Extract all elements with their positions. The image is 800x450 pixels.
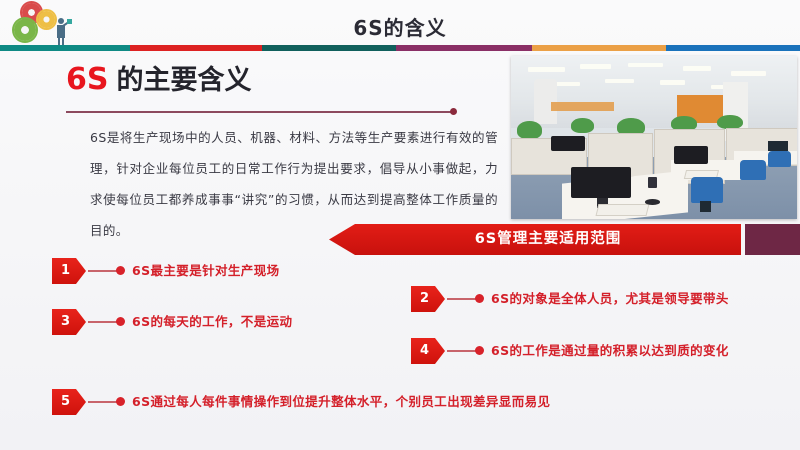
heading-divider [66, 111, 453, 113]
item-bullet-dot [475, 294, 484, 303]
red-segment [130, 45, 262, 51]
header-color-bar [0, 45, 800, 51]
item-number-badge: 3 [52, 309, 86, 335]
orange-segment [532, 45, 666, 51]
item-bullet-dot [116, 266, 125, 275]
heading-rest: 的主要含义 [116, 65, 251, 96]
item-connector-line [447, 298, 477, 300]
section-heading: 6S的主要含义 [66, 58, 251, 97]
slide-header: 6S的含义 [0, 0, 800, 52]
banner-label: 6S管理主要适用范围 [355, 224, 741, 255]
item-label: 6S的工作是通过量的积累以达到质的变化 [491, 338, 729, 364]
item-bullet-dot [116, 397, 125, 406]
page-title: 6S的含义 [0, 12, 800, 41]
item-number-badge: 4 [411, 338, 445, 364]
item-bullet-dot [116, 317, 125, 326]
monitor [551, 136, 585, 151]
scope-banner: 6S管理主要适用范围 [329, 224, 741, 255]
item-connector-line [88, 270, 118, 272]
office-photo [511, 56, 797, 219]
monitor [571, 167, 631, 198]
heading-accent: 6S [66, 62, 108, 97]
item-number-badge: 5 [52, 389, 86, 415]
slide-canvas: 6S的含义 6S的主要含义 6S是将生产现场中的人员、机器、材料、方法等生产要素… [0, 0, 800, 450]
item-connector-line [447, 350, 477, 352]
item-number-badge: 2 [411, 286, 445, 312]
item-connector-line [88, 321, 118, 323]
banner-side-block [745, 224, 800, 255]
item-label: 6S通过每人每件事情操作到位提升整体水平，个别员工出现差异显而易见 [132, 389, 550, 415]
item-number-badge: 1 [52, 258, 86, 284]
monitor [674, 146, 708, 164]
teal-segment [0, 45, 130, 51]
item-connector-line [88, 401, 118, 403]
blue-segment [666, 45, 800, 51]
item-label: 6S的每天的工作，不是运动 [132, 309, 292, 335]
dark-teal-segment [262, 45, 396, 51]
item-label: 6S的对象是全体人员，尤其是领导要带头 [491, 286, 729, 312]
item-bullet-dot [475, 346, 484, 355]
heading-divider-dot [450, 108, 457, 115]
item-label: 6S最主要是针对生产现场 [132, 258, 280, 284]
purple-segment [396, 45, 532, 51]
